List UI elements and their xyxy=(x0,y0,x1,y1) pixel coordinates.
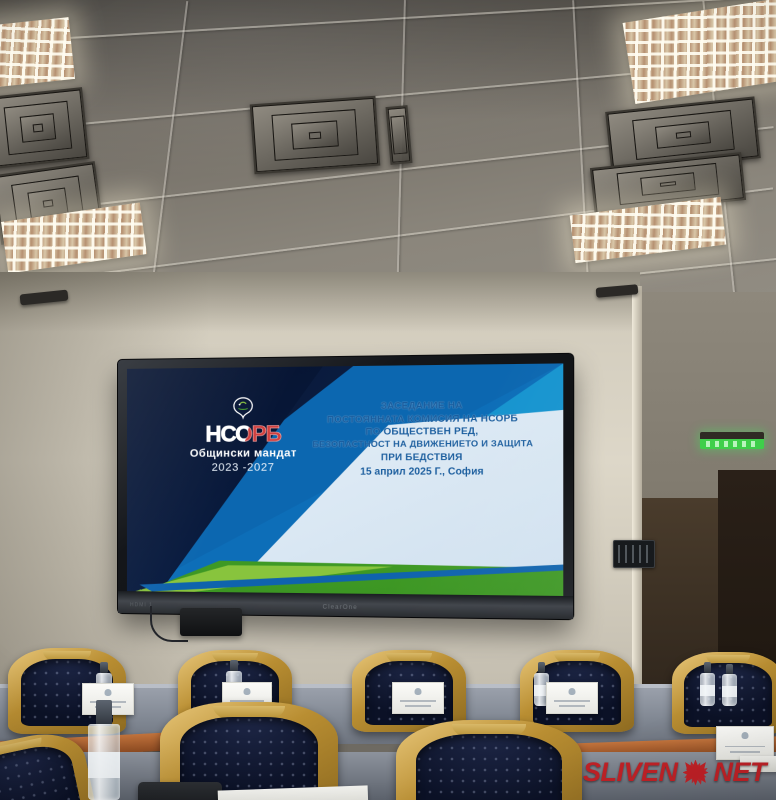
headline-line: ПОСТОЯННАТА КОМИСИЯ НА НСОРБ xyxy=(295,412,552,427)
delegate-name-card xyxy=(716,726,774,760)
water-bottle xyxy=(88,700,120,800)
delegate-name-card xyxy=(546,682,598,714)
star-burst-icon xyxy=(683,760,709,786)
banquet-chair xyxy=(396,720,582,800)
laptop-bag xyxy=(138,782,222,800)
square-air-diffuser xyxy=(0,87,90,169)
wall-mounted-display[interactable]: НСОРБ Общински мандат 2023 -2027 ЗАСЕДАН… xyxy=(118,354,573,619)
watermark: SLIVEN NET xyxy=(583,757,766,788)
water-bottle xyxy=(722,664,737,706)
photo-scene: НСОРБ Общински мандат 2023 -2027 ЗАСЕДАН… xyxy=(0,0,776,800)
square-air-diffuser xyxy=(250,96,381,175)
water-bottle xyxy=(700,662,715,706)
slide-date: 15 април 2025 Г., София xyxy=(295,465,552,479)
presentation-slide: НСОРБ Общински мандат 2023 -2027 ЗАСЕДАН… xyxy=(127,363,563,596)
wall-corner-edge xyxy=(632,286,642,696)
slide-headline: ЗАСЕДАНИЕ НА ПОСТОЯННАТА КОМИСИЯ НА НСОР… xyxy=(295,398,552,479)
watermark-left-text: SLIVEN xyxy=(583,757,678,788)
headline-line: ПО ОБЩЕСТВЕН РЕД, xyxy=(295,425,552,439)
headline-line: ПРИ БЕДСТВИЯ xyxy=(295,450,552,464)
headline-line: БЕЗОПАСТНОСТ НА ДВИЖЕНИЕТО И ЗАЩИТА xyxy=(295,438,552,451)
watermark-right-text: NET xyxy=(714,757,767,788)
lion-emblem xyxy=(226,397,261,424)
emergency-exit-sign xyxy=(700,432,764,449)
media-box xyxy=(180,608,242,636)
recessed-louver-light-panel xyxy=(0,17,75,89)
display-screen: НСОРБ Общински мандат 2023 -2027 ЗАСЕДАН… xyxy=(127,363,563,596)
wall-socket-panel xyxy=(613,540,655,568)
display-brand-label: ClearOne xyxy=(323,605,358,612)
suspended-tile-ceiling xyxy=(0,0,776,300)
delegate-name-card xyxy=(392,682,444,714)
lamp-louver-grid xyxy=(0,17,75,89)
